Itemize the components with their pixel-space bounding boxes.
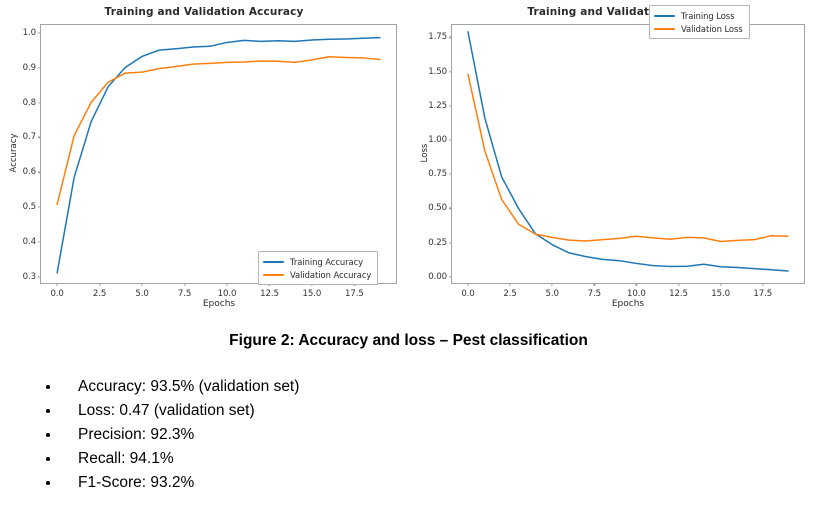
y-tick-label: 1.50 — [428, 67, 447, 77]
figure-caption: Figure 2: Accuracy and loss – Pest class… — [0, 332, 817, 350]
chart-accuracy-legend: Training Accuracy Validation Accuracy — [258, 251, 378, 285]
x-tick-mark — [510, 283, 511, 286]
x-tick-label: 15.0 — [303, 289, 322, 299]
y-tick-label: 0.00 — [428, 272, 447, 282]
x-tick-label: 10.0 — [627, 289, 646, 299]
chart-loss: Training and Validation Loss 0.000.250.5… — [409, 0, 817, 320]
series-line — [468, 32, 788, 271]
metrics-list-item-label: Accuracy: 93.5% (validation set) — [78, 378, 299, 395]
bullet-icon — [46, 433, 50, 437]
legend-swatch-validation-accuracy — [263, 274, 284, 276]
chart-loss-ylabel: Loss — [420, 133, 430, 173]
legend-label-training-loss: Training Loss — [681, 11, 734, 21]
y-tick-mark — [449, 105, 452, 106]
legend-label-validation-accuracy: Validation Accuracy — [290, 270, 371, 280]
legend-label-training-accuracy: Training Accuracy — [290, 257, 363, 267]
x-tick-mark — [141, 283, 142, 286]
bullet-icon — [46, 385, 50, 389]
y-tick-label: 1.00 — [428, 135, 447, 145]
chart-accuracy-plot-area: 0.30.40.50.60.70.80.91.0 0.02.55.07.510.… — [40, 24, 397, 284]
y-tick-mark — [38, 207, 41, 208]
series-line — [57, 38, 380, 273]
x-tick-label: 17.5 — [345, 289, 364, 299]
y-tick-label: 0.9 — [23, 63, 36, 73]
chart-accuracy-lines — [41, 25, 396, 283]
x-tick-label: 10.0 — [218, 289, 237, 299]
legend-item-training-loss: Training Loss — [654, 9, 743, 22]
y-tick-mark — [449, 208, 452, 209]
y-tick-label: 0.50 — [428, 203, 447, 213]
y-tick-label: 0.75 — [428, 169, 447, 179]
x-tick-mark — [720, 283, 721, 286]
legend-swatch-training-accuracy — [263, 261, 284, 263]
metrics-list-item-label: Loss: 0.47 (validation set) — [78, 402, 255, 419]
x-tick-label: 2.5 — [503, 289, 516, 299]
x-tick-label: 17.5 — [753, 289, 772, 299]
y-tick-label: 0.6 — [23, 167, 36, 177]
legend-item-training-accuracy: Training Accuracy — [263, 255, 371, 268]
x-tick-label: 12.5 — [260, 289, 279, 299]
y-tick-mark — [38, 172, 41, 173]
bullet-icon — [46, 457, 50, 461]
x-tick-mark — [762, 283, 763, 286]
metrics-list-item-label: Recall: 94.1% — [78, 450, 174, 467]
chart-accuracy-xlabel: Epochs — [203, 299, 235, 309]
metrics-list-item: F1-Score: 93.2% — [0, 471, 817, 495]
metrics-list-item: Loss: 0.47 (validation set) — [0, 399, 817, 423]
series-line — [468, 74, 788, 241]
x-tick-label: 5.0 — [546, 289, 559, 299]
x-tick-mark — [99, 283, 100, 286]
y-tick-label: 1.0 — [23, 28, 36, 38]
y-tick-label: 0.4 — [23, 237, 36, 247]
x-tick-label: 15.0 — [711, 289, 730, 299]
y-tick-mark — [38, 137, 41, 138]
metrics-list: Accuracy: 93.5% (validation set)Loss: 0.… — [0, 375, 817, 495]
metrics-list-item-label: F1-Score: 93.2% — [78, 474, 194, 491]
y-tick-label: 0.5 — [23, 202, 36, 212]
x-tick-label: 7.5 — [178, 289, 191, 299]
x-tick-mark — [636, 283, 637, 286]
x-tick-mark — [184, 283, 185, 286]
chart-accuracy-title: Training and Validation Accuracy — [0, 6, 408, 18]
x-tick-label: 0.0 — [50, 289, 63, 299]
y-tick-mark — [449, 174, 452, 175]
x-tick-mark — [678, 283, 679, 286]
series-line — [57, 57, 380, 205]
chart-accuracy: Training and Validation Accuracy 0.30.40… — [0, 0, 408, 320]
chart-accuracy-ylabel: Accuracy — [9, 133, 19, 173]
y-tick-mark — [38, 242, 41, 243]
y-tick-label: 0.3 — [23, 272, 36, 282]
x-tick-label: 7.5 — [588, 289, 601, 299]
metrics-list-item: Recall: 94.1% — [0, 447, 817, 471]
y-tick-mark — [449, 139, 452, 140]
y-tick-mark — [38, 32, 41, 33]
x-tick-mark — [57, 283, 58, 286]
bullet-icon — [46, 409, 50, 413]
y-tick-mark — [38, 67, 41, 68]
chart-loss-legend: Training Loss Validation Loss — [649, 5, 750, 39]
y-tick-mark — [449, 71, 452, 72]
metrics-list-item: Precision: 92.3% — [0, 423, 817, 447]
legend-swatch-validation-loss — [654, 28, 675, 30]
figure-area: Training and Validation Accuracy 0.30.40… — [0, 0, 817, 320]
x-tick-label: 5.0 — [135, 289, 148, 299]
chart-loss-title: Training and Validation Loss — [409, 6, 817, 18]
legend-swatch-training-loss — [654, 15, 675, 17]
x-tick-mark — [467, 283, 468, 286]
chart-loss-plot-area: 0.000.250.500.751.001.251.501.75 0.02.55… — [451, 24, 805, 284]
chart-loss-lines — [452, 25, 804, 283]
chart-loss-xlabel: Epochs — [612, 299, 644, 309]
y-tick-mark — [449, 276, 452, 277]
legend-label-validation-loss: Validation Loss — [681, 24, 743, 34]
x-tick-label: 2.5 — [93, 289, 106, 299]
bullet-icon — [46, 481, 50, 485]
y-tick-mark — [38, 276, 41, 277]
y-tick-label: 1.25 — [428, 101, 447, 111]
legend-item-validation-accuracy: Validation Accuracy — [263, 268, 371, 281]
x-tick-mark — [226, 283, 227, 286]
y-tick-mark — [38, 102, 41, 103]
y-tick-label: 0.8 — [23, 98, 36, 108]
y-tick-label: 0.7 — [23, 132, 36, 142]
x-tick-mark — [594, 283, 595, 286]
x-tick-label: 12.5 — [669, 289, 688, 299]
y-tick-label: 0.25 — [428, 238, 447, 248]
y-tick-mark — [449, 37, 452, 38]
y-tick-mark — [449, 242, 452, 243]
x-tick-label: 0.0 — [461, 289, 474, 299]
metrics-list-item: Accuracy: 93.5% (validation set) — [0, 375, 817, 399]
legend-item-validation-loss: Validation Loss — [654, 22, 743, 35]
y-tick-label: 1.75 — [428, 32, 447, 42]
metrics-list-item-label: Precision: 92.3% — [78, 426, 194, 443]
x-tick-mark — [552, 283, 553, 286]
